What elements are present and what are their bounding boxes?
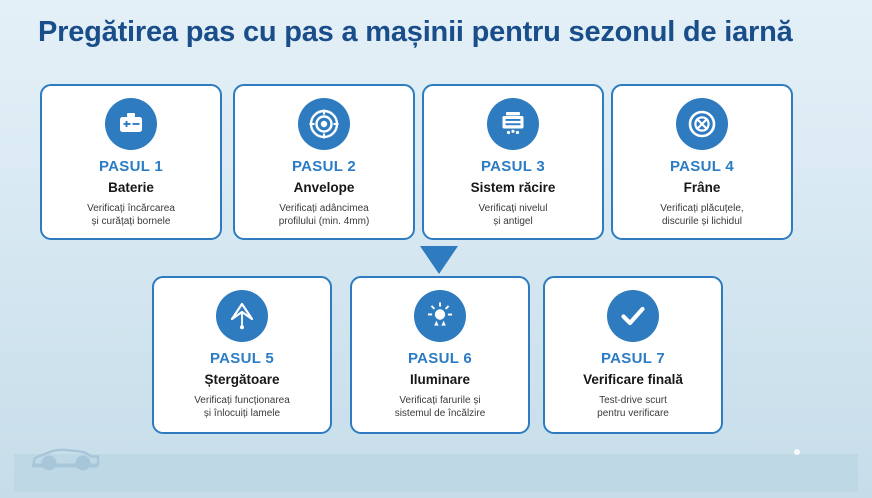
- step-card-4[interactable]: PASUL 4 Frâne Verificați plăcuțele, disc…: [611, 84, 793, 240]
- tire-icon: [298, 98, 350, 150]
- step-desc-line-1: Verificați funcționarea: [194, 395, 290, 406]
- step-label: PASUL 3: [481, 159, 545, 174]
- step-description: Verificați nivelul și antigel: [473, 202, 554, 229]
- headlight-icon: [414, 290, 466, 342]
- decorative-dot: [794, 449, 800, 455]
- step-label: PASUL 7: [601, 351, 665, 366]
- step-title: Verificare finală: [583, 373, 683, 387]
- step-desc-line-1: Test-drive scurt: [599, 395, 667, 406]
- step-label: PASUL 6: [408, 351, 472, 366]
- brake-disc-icon: [676, 98, 728, 150]
- step-card-1[interactable]: PASUL 1 Baterie Verificați încărcarea și…: [40, 84, 222, 240]
- step-title: Sistem răcire: [471, 181, 556, 195]
- down-arrow-icon: [420, 246, 458, 274]
- page-title: Pregătirea pas cu pas a mașinii pentru s…: [38, 16, 793, 49]
- step-desc-line-2: și antigel: [493, 216, 532, 227]
- step-card-2[interactable]: PASUL 2 Anvelope Verificați adâncimea pr…: [233, 84, 415, 240]
- step-title: Iluminare: [410, 373, 470, 387]
- bottom-band: [14, 454, 858, 492]
- step-desc-line-2: și înlocuiți lamele: [204, 408, 280, 419]
- step-description: Verificați încărcarea și curățați bornel…: [81, 202, 181, 229]
- step-card-5[interactable]: PASUL 5 Ștergătoare Verificați funcționa…: [152, 276, 332, 434]
- step-label: PASUL 2: [292, 159, 356, 174]
- radiator-icon: [487, 98, 539, 150]
- step-desc-line-2: discurile și lichidul: [662, 216, 742, 227]
- step-label: PASUL 1: [99, 159, 163, 174]
- step-title: Ștergătoare: [204, 373, 279, 387]
- step-description: Verificați plăcuțele, discurile și lichi…: [654, 202, 749, 229]
- step-desc-line-2: și curățați bornele: [92, 216, 171, 227]
- step-label: PASUL 5: [210, 351, 274, 366]
- step-description: Verificați funcționarea și înlocuiți lam…: [188, 394, 296, 421]
- step-card-3[interactable]: PASUL 3 Sistem răcire Verificați nivelul…: [422, 84, 604, 240]
- step-card-7[interactable]: PASUL 7 Verificare finală Test-drive scu…: [543, 276, 723, 434]
- checkmark-icon: [607, 290, 659, 342]
- step-description: Test-drive scurt pentru verificare: [591, 394, 675, 421]
- step-title: Baterie: [108, 181, 154, 195]
- step-desc-line-1: Verificați adâncimea: [279, 203, 369, 214]
- step-desc-line-1: Verificați plăcuțele,: [660, 203, 743, 214]
- battery-icon: [105, 98, 157, 150]
- step-description: Verificați farurile și sistemul de încăl…: [389, 394, 492, 421]
- step-title: Anvelope: [294, 181, 355, 195]
- step-desc-line-1: Verificați farurile și: [399, 395, 480, 406]
- step-card-6[interactable]: PASUL 6 Iluminare Verificați farurile și…: [350, 276, 530, 434]
- wiper-icon: [216, 290, 268, 342]
- step-desc-line-2: sistemul de încălzire: [395, 408, 486, 419]
- step-desc-line-2: profilului (min. 4mm): [279, 216, 370, 227]
- car-silhouette-icon: [30, 443, 108, 480]
- infographic-canvas: Pregătirea pas cu pas a mașinii pentru s…: [0, 0, 872, 498]
- step-title: Frâne: [684, 181, 721, 195]
- step-label: PASUL 4: [670, 159, 734, 174]
- step-desc-line-1: Verificați nivelul: [479, 203, 548, 214]
- step-desc-line-1: Verificați încărcarea: [87, 203, 175, 214]
- step-desc-line-2: pentru verificare: [597, 408, 669, 419]
- step-description: Verificați adâncimea profilului (min. 4m…: [273, 202, 376, 229]
